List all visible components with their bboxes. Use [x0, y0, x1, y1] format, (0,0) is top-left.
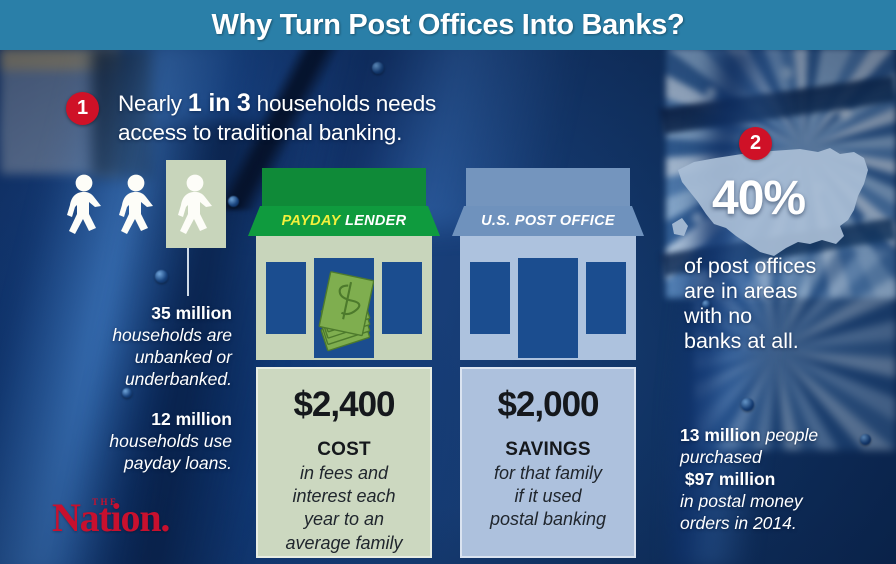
storefront-window [266, 262, 306, 334]
payday-lender-column: PAYDAY LENDER [248, 168, 440, 558]
page-title: Why Turn Post Offices Into Banks? [0, 0, 896, 50]
payday-caption: COST [258, 439, 430, 461]
walking-person-icon [62, 174, 108, 236]
header-bar: Why Turn Post Offices Into Banks? [0, 0, 896, 50]
point-2-line-4: banks at all. [684, 329, 889, 354]
stat-text: households are unbanked or underbanked. [50, 324, 232, 390]
the-nation-logo[interactable]: THE Nation. [52, 498, 169, 538]
storefront-window [382, 262, 422, 334]
point-2-text: of post offices are in areas with no ban… [684, 254, 889, 354]
payday-sign-word-2: LENDER [345, 213, 406, 229]
post-office-roof [466, 168, 630, 206]
post-office-value-panel: $2,000 SAVINGS for that family if it use… [460, 367, 636, 558]
headline-post: households needs [251, 91, 437, 116]
headline-emphasis: 1 in 3 [188, 89, 251, 117]
storefront-window-center [518, 258, 578, 358]
point-2-line-1: of post offices [684, 254, 889, 279]
payday-amount: $2,400 [258, 385, 430, 425]
headline-pre: Nearly [118, 91, 188, 116]
payday-value-panel: $2,400 COST in fees and interest each ye… [256, 367, 432, 558]
post-office-detail-1: for that family [462, 463, 634, 484]
point-2-badge: 2 [739, 127, 772, 160]
stat-italic-3: in postal money [680, 490, 892, 512]
payday-facade [256, 236, 432, 360]
post-office-column: U.S. POST OFFICE $2,000 SAVINGS for that… [452, 168, 644, 558]
stat-number: 35 million [50, 302, 232, 324]
payday-detail-1: in fees and [258, 463, 430, 484]
storefront-window-center [314, 258, 374, 358]
stat-bold-1: 13 million [680, 425, 761, 445]
post-office-facade [460, 236, 636, 360]
post-office-awning: U.S. POST OFFICE [452, 206, 644, 236]
infographic-canvas: Why Turn Post Offices Into Banks? 1 Near… [0, 0, 896, 564]
payday-roof [262, 168, 426, 206]
payday-detail-3: year to an [258, 509, 430, 530]
stat-12-million: 12 million households use payday loans. [50, 408, 232, 474]
percent-40: 40% [712, 171, 805, 226]
cash-bills-icon [314, 258, 374, 358]
storefront-window [470, 262, 510, 334]
post-office-caption: SAVINGS [462, 439, 634, 461]
post-office-sign-word: U.S. POST OFFICE [481, 213, 615, 229]
point-1-headline: Nearly 1 in 3 households needs access to… [118, 88, 588, 146]
stat-number: 12 million [50, 408, 232, 430]
badge-number: 1 [66, 92, 99, 125]
post-office-sign-label: U.S. POST OFFICE [452, 206, 644, 236]
payday-sign-label: PAYDAY LENDER [248, 206, 440, 236]
logo-the: THE [92, 497, 119, 507]
point-1-badge: 1 [66, 92, 99, 125]
post-office-detail-3: postal banking [462, 509, 634, 530]
walking-person-icon [114, 174, 160, 236]
walking-person-icon-highlighted [173, 174, 219, 236]
stat-text: households use payday loans. [50, 430, 232, 474]
badge-number: 2 [739, 127, 772, 160]
post-office-detail-2: if it used [462, 486, 634, 507]
stat-bold-2: $97 million [685, 469, 775, 489]
payday-detail-2: interest each [258, 486, 430, 507]
point-2-line-3: with no [684, 304, 889, 329]
headline-line-2: access to traditional banking. [118, 119, 588, 146]
comparison-columns: PAYDAY LENDER [240, 168, 660, 550]
payday-detail-4: average family [258, 533, 430, 554]
stat-italic-2: purchased [680, 446, 892, 468]
post-office-amount: $2,000 [462, 385, 634, 425]
stat-35-million: 35 million households are unbanked or un… [50, 302, 232, 390]
callout-line [187, 248, 189, 296]
storefront-window [586, 262, 626, 334]
stat-money-orders: 13 million people purchased $97 million … [680, 424, 892, 534]
payday-sign-word-1: PAYDAY [282, 213, 341, 229]
stat-italic-4: orders in 2014. [680, 512, 892, 534]
point-2-line-2: are in areas [684, 279, 889, 304]
payday-awning: PAYDAY LENDER [248, 206, 440, 236]
stat-italic-1: people [761, 425, 818, 445]
